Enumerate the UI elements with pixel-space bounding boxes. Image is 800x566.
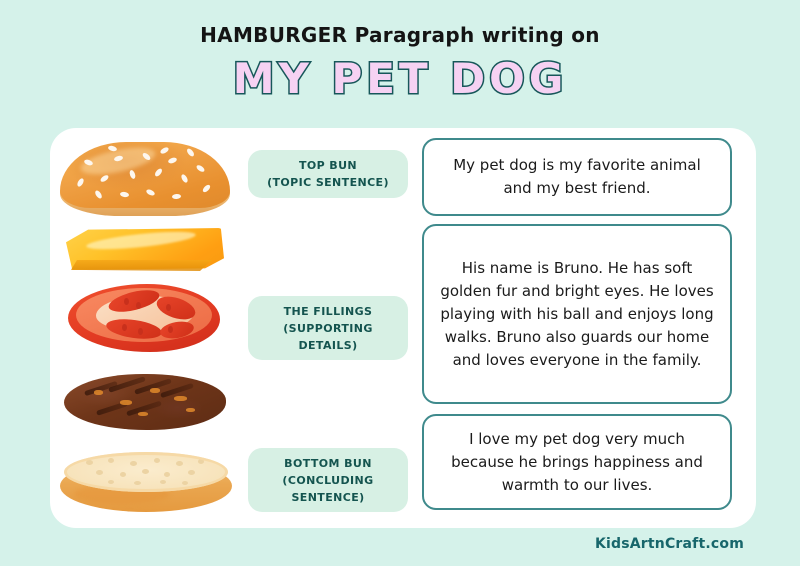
- patty-body: [64, 374, 226, 430]
- header: HAMBURGER Paragraph writing on MY PET DO…: [0, 22, 800, 104]
- tomato-slice-icon: [50, 278, 240, 362]
- top-bun-icon: [50, 136, 240, 222]
- textbox-concluding-sentence: I love my pet dog very much because he b…: [422, 414, 732, 510]
- label-top-bun: TOP BUN (TOPIC SENTENCE): [248, 150, 408, 198]
- hamburger-illustration: [50, 128, 240, 528]
- textbox-topic-sentence-text: My pet dog is my favorite animal and my …: [438, 154, 716, 200]
- content-card: TOP BUN (TOPIC SENTENCE) THE FILLINGS (S…: [50, 128, 756, 528]
- cheese-slice-icon: [50, 224, 240, 276]
- label-fillings-text: THE FILLINGS (SUPPORTING DETAILS): [256, 303, 400, 354]
- label-fillings: THE FILLINGS (SUPPORTING DETAILS): [248, 296, 408, 360]
- page-title: MY PET DOG: [0, 54, 800, 104]
- label-top-bun-text: TOP BUN (TOPIC SENTENCE): [267, 157, 389, 191]
- bottom-bun-icon: [50, 446, 240, 522]
- textbox-supporting-details-text: His name is Bruno. He has soft golden fu…: [438, 257, 716, 372]
- meat-patty-icon: [50, 366, 240, 440]
- label-bottom-bun: BOTTOM BUN (CONCLUDING SENTENCE): [248, 448, 408, 512]
- infographic-page: HAMBURGER Paragraph writing on MY PET DO…: [0, 0, 800, 566]
- cheese-edge: [68, 260, 218, 271]
- bottom-bun-rim: [64, 452, 228, 492]
- site-watermark: KidsArtnCraft.com: [595, 536, 744, 552]
- textbox-concluding-sentence-text: I love my pet dog very much because he b…: [438, 428, 716, 497]
- label-bottom-bun-text: BOTTOM BUN (CONCLUDING SENTENCE): [256, 455, 400, 506]
- textbox-topic-sentence: My pet dog is my favorite animal and my …: [422, 138, 732, 216]
- textbox-supporting-details: His name is Bruno. He has soft golden fu…: [422, 224, 732, 404]
- page-subtitle: HAMBURGER Paragraph writing on: [0, 22, 800, 48]
